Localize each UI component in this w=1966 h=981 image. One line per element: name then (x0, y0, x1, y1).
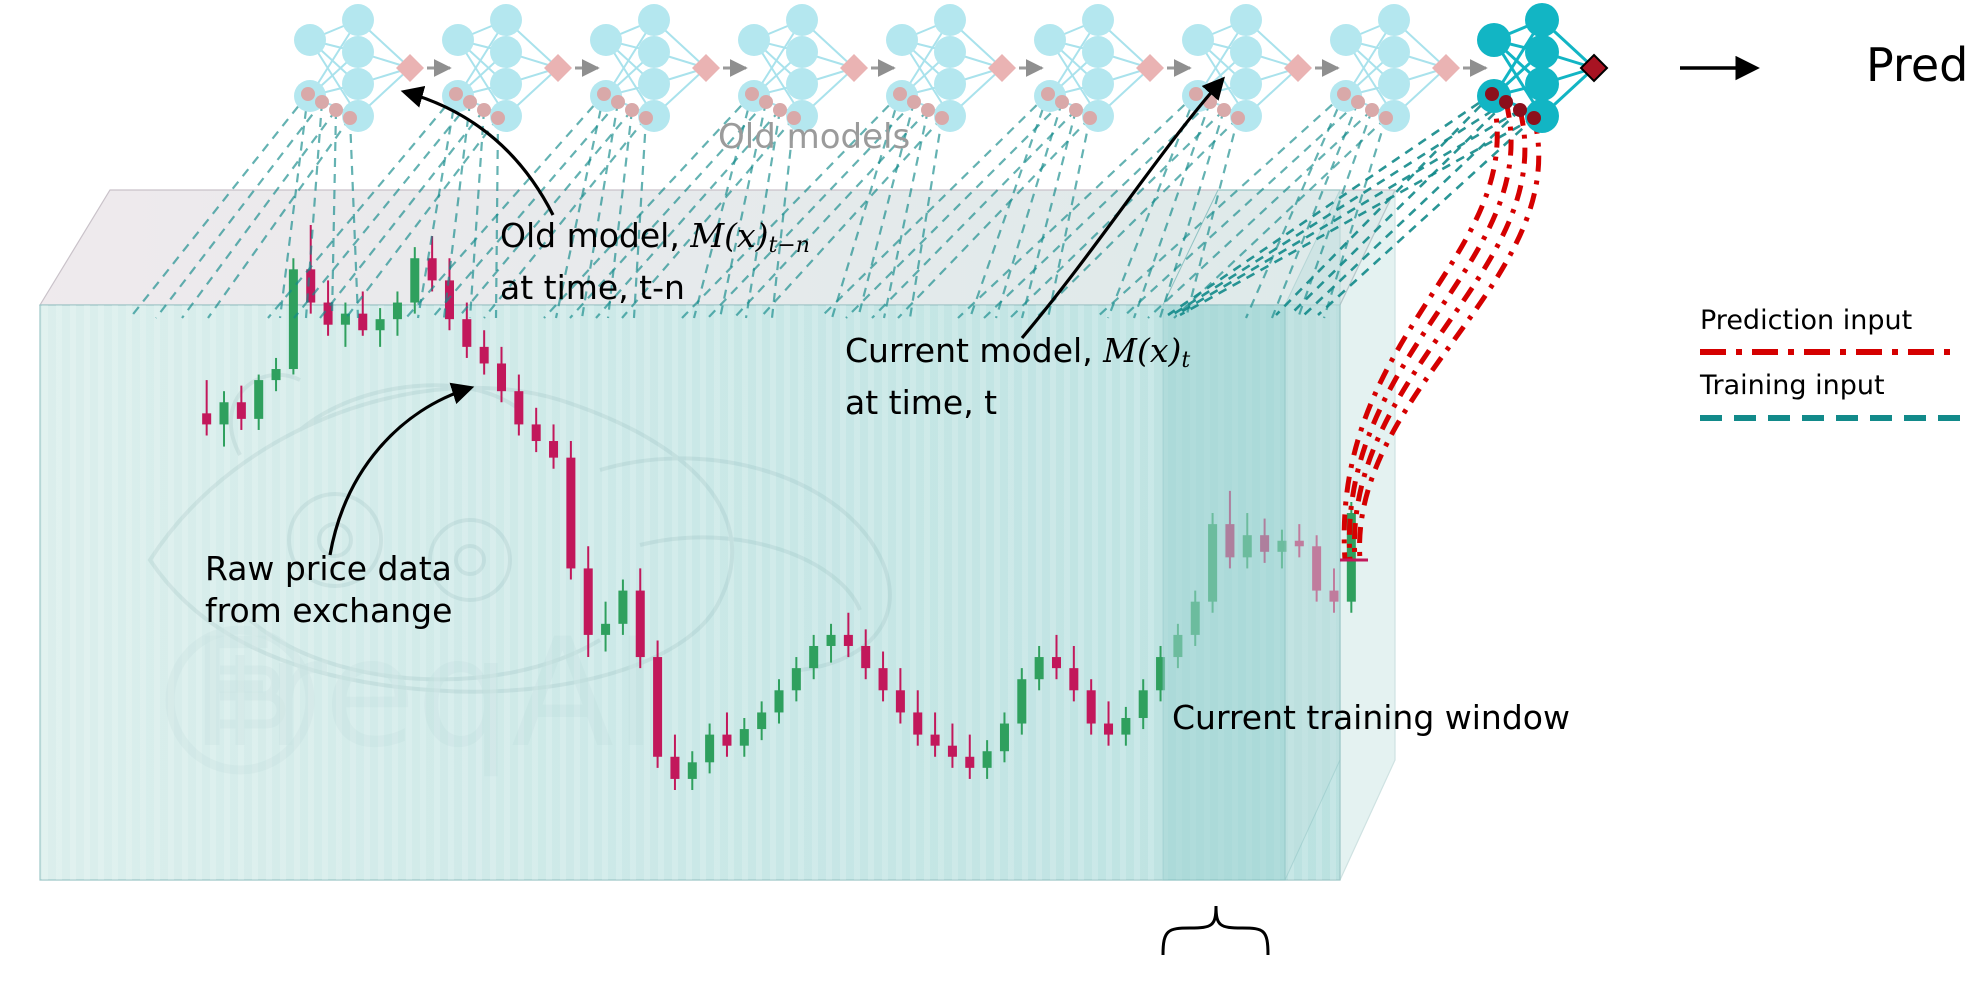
network-input-dot (745, 87, 759, 101)
network-input-dot (1083, 111, 1097, 125)
network-input-dot (639, 111, 653, 125)
candle-body (376, 319, 385, 330)
network-node (638, 36, 670, 68)
old-model-network (590, 4, 746, 132)
network-node (1034, 24, 1066, 56)
network-input-dot (477, 103, 491, 117)
candle-body (844, 635, 853, 646)
candle-body (757, 712, 766, 729)
candle-body (688, 762, 697, 779)
candle-body (272, 369, 281, 380)
candle-body (566, 458, 575, 569)
network-input-dot (463, 95, 477, 109)
candle-body (774, 690, 783, 712)
network-input-dot (907, 95, 921, 109)
network-node (1082, 4, 1114, 36)
network-input-dot (1499, 95, 1513, 109)
network-input-dot (329, 103, 343, 117)
network-input-dot (1513, 103, 1527, 117)
network-input-dot (625, 103, 639, 117)
network-input-dot (1485, 87, 1499, 101)
network-node (934, 36, 966, 68)
network-input-dot (759, 95, 773, 109)
current-model-math-args: (x) (1137, 331, 1181, 370)
network-node (342, 4, 374, 36)
network-input-dot (1069, 103, 1083, 117)
network-node (934, 68, 966, 100)
network-node (1378, 68, 1410, 100)
network-node (1525, 67, 1559, 101)
current-model-text-line2: at time, t (845, 382, 1190, 424)
network-node (1525, 35, 1559, 69)
network-input-dot (1379, 111, 1393, 125)
candle-body (1052, 657, 1061, 668)
candle-body (202, 413, 211, 424)
candle-body (670, 757, 679, 779)
current-training-window-label: Current training window (1172, 698, 1570, 737)
network-input-dot (893, 87, 907, 101)
prediction-label: Prediction (1866, 38, 1966, 92)
network-node (490, 36, 522, 68)
network-node (1230, 36, 1262, 68)
network-input-dot (1365, 103, 1379, 117)
network-node (638, 68, 670, 100)
candle-body (1121, 718, 1130, 735)
candle-body (237, 402, 246, 419)
current-model-annotation: Current model, M(x)t at time, t (845, 330, 1190, 424)
candle-body (792, 668, 801, 690)
network-node (1230, 4, 1262, 36)
network-input-dot (1041, 87, 1055, 101)
old-models-label: Old models (718, 117, 910, 157)
network-node (1378, 4, 1410, 36)
network-node (1230, 68, 1262, 100)
network-node (1378, 36, 1410, 68)
neural-network-chain (294, 3, 1607, 133)
network-input-dot (773, 103, 787, 117)
candle-body (601, 624, 610, 635)
network-input-dot (1337, 87, 1351, 101)
old-model-network (442, 4, 598, 132)
network-input-dot (611, 95, 625, 109)
candle-body (913, 712, 922, 734)
network-input-dot (1217, 103, 1231, 117)
candle-body (549, 441, 558, 458)
network-node (638, 4, 670, 36)
network-input-dot (1231, 111, 1245, 125)
network-node (294, 24, 326, 56)
network-input-dot (935, 111, 949, 125)
network-node (786, 68, 818, 100)
network-node (1082, 36, 1114, 68)
old-model-annotation: Old model, M(x)t−n at time, t-n (500, 215, 810, 309)
candle-body (653, 657, 662, 757)
old-model-network (1182, 4, 1338, 132)
network-input-dot (921, 103, 935, 117)
network-input-dot (1189, 87, 1203, 101)
candle-body (358, 314, 367, 331)
diagram-svg: FreqAI (0, 0, 1966, 981)
network-node (490, 68, 522, 100)
raw-price-line1: Raw price data (205, 548, 452, 590)
network-input-dot (1351, 95, 1365, 109)
old-model-network (1034, 4, 1190, 132)
candle-body (220, 402, 229, 424)
candle-body (722, 735, 731, 746)
candle-body (1069, 668, 1078, 690)
network-input-dot (1055, 95, 1069, 109)
candle-body (393, 303, 402, 320)
candle-body (428, 258, 437, 280)
network-node (490, 4, 522, 36)
network-node (738, 24, 770, 56)
candle-body (636, 591, 645, 657)
candle-body (514, 391, 523, 424)
network-node (1182, 24, 1214, 56)
candle-body (618, 591, 627, 624)
candle-body (532, 424, 541, 441)
old-model-text-line2: at time, t-n (500, 267, 810, 309)
candle-body (983, 751, 992, 768)
candle-body (1104, 724, 1113, 735)
candle-body (1087, 690, 1096, 723)
old-model-math-args: (x) (724, 216, 768, 255)
candle-body (861, 646, 870, 668)
training-window-brace (1163, 906, 1268, 955)
candle-body (462, 319, 471, 347)
candle-body (410, 258, 419, 302)
old-model-network (886, 4, 1042, 132)
network-node (342, 36, 374, 68)
diagram-canvas: FreqAI (0, 0, 1966, 981)
candle-body (740, 729, 749, 746)
network-input-dot (491, 111, 505, 125)
legend-label-training-input: Training input (1700, 370, 1885, 401)
candle-body (1017, 679, 1026, 723)
old-model-text-pre: Old model, (500, 216, 690, 255)
network-node (786, 4, 818, 36)
current-model-text-pre: Current model, (845, 331, 1103, 370)
network-node (1525, 3, 1559, 37)
network-node (1477, 23, 1511, 57)
network-node (442, 24, 474, 56)
candle-body (879, 668, 888, 690)
raw-price-annotation: Raw price data from exchange (205, 548, 452, 632)
candle-body (931, 735, 940, 746)
network-input-dot (449, 87, 463, 101)
network-node (886, 24, 918, 56)
old-model-network (738, 4, 894, 132)
legend-label-prediction-input: Prediction input (1700, 305, 1912, 336)
network-node (1330, 24, 1362, 56)
network-input-dot (343, 111, 357, 125)
network-input-dot (1527, 111, 1541, 125)
network-node (786, 36, 818, 68)
candle-body (948, 746, 957, 757)
candle-body (497, 363, 506, 391)
candle-body (480, 347, 489, 364)
network-input-dot (597, 87, 611, 101)
current-model-math-m: M (1103, 331, 1137, 370)
candle-body (1139, 690, 1148, 718)
raw-price-line2: from exchange (205, 590, 452, 632)
old-model-math-m: M (690, 216, 724, 255)
candle-body (896, 690, 905, 712)
network-node (590, 24, 622, 56)
candle-body (809, 646, 818, 668)
candle-body (1035, 657, 1044, 679)
network-node (1082, 68, 1114, 100)
candle-body (1000, 724, 1009, 752)
current-model-network (1477, 3, 1607, 133)
network-node (934, 4, 966, 36)
candle-body (584, 568, 593, 634)
old-model-network (294, 4, 450, 132)
network-input-dot (301, 87, 315, 101)
network-node (342, 68, 374, 100)
old-model-math-sub: t−n (769, 233, 810, 258)
current-model-math-sub: t (1181, 348, 1190, 373)
candle-body (705, 735, 714, 763)
candle-body (254, 380, 263, 419)
candle-body (965, 757, 974, 768)
candle-body (827, 635, 836, 646)
network-input-dot (315, 95, 329, 109)
